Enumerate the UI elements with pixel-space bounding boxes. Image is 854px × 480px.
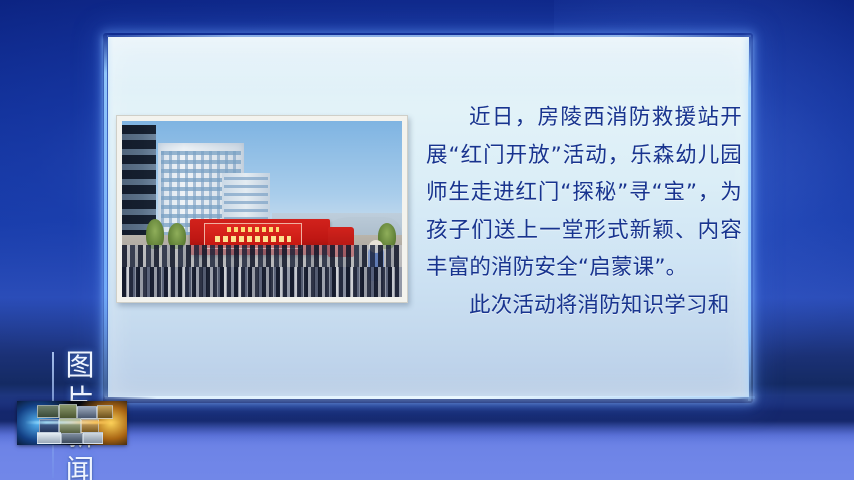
article-paragraph-2: 此次活动将消防知识学习和 xyxy=(426,287,742,325)
brand-char-4: 闻 xyxy=(60,453,100,480)
montage-light-streak xyxy=(25,421,121,424)
panel-surface: 近日，房陵西消防救援站开展“红门开放”活动，乐森幼儿园师生走进红门“探秘”寻“宝… xyxy=(108,37,749,397)
photo-crowd-front-row xyxy=(122,267,402,297)
photo-truck-banner-line-2 xyxy=(215,236,291,242)
article-text: 近日，房陵西消防救援站开展“红门开放”活动，乐森幼儿园师生走进红门“探秘”寻“宝… xyxy=(426,99,742,324)
panel-edge-left xyxy=(104,37,107,397)
montage-thumbnail xyxy=(61,433,83,444)
montage-thumbnail xyxy=(59,404,77,419)
news-photo xyxy=(122,121,402,297)
montage-banner-strip xyxy=(17,401,127,445)
broadcast-screen: 近日，房陵西消防救援站开展“红门开放”活动，乐森幼儿园师生走进红门“探秘”寻“宝… xyxy=(0,0,854,480)
montage-thumbnail xyxy=(83,432,103,444)
news-photo-frame xyxy=(116,115,408,303)
montage-thumbnail xyxy=(37,432,61,444)
content-panel: 近日，房陵西消防救援站开展“红门开放”活动，乐森幼儿园师生走进红门“探秘”寻“宝… xyxy=(103,33,753,403)
photo-truck-banner-line-1 xyxy=(227,227,279,232)
montage-thumbnail xyxy=(37,405,59,418)
panel-edge-bottom xyxy=(105,396,755,399)
article-paragraph-1: 近日，房陵西消防救援站开展“红门开放”活动，乐森幼儿园师生走进红门“探秘”寻“宝… xyxy=(426,99,742,287)
brand-char-1: 图 xyxy=(60,348,100,383)
montage-thumbnail xyxy=(97,405,113,419)
panel-edge-top xyxy=(107,35,751,37)
panel-edge-right xyxy=(748,37,751,401)
